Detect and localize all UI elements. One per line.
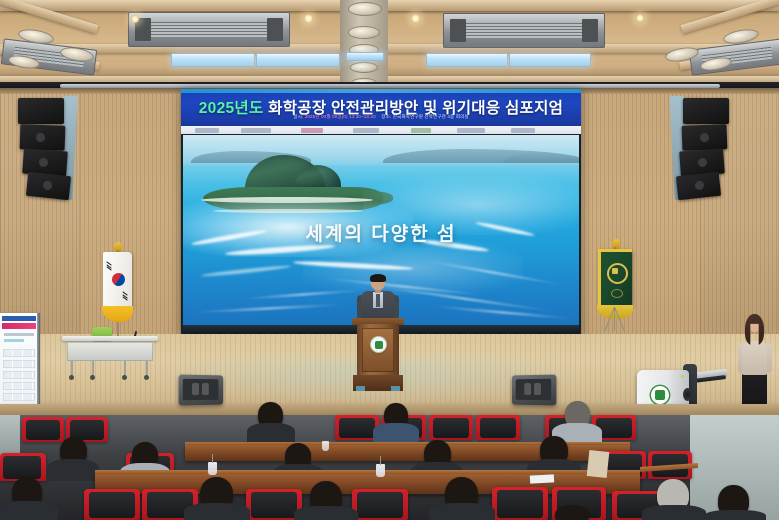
ceiling-oval-light (348, 2, 382, 16)
attendee-shoulders (294, 506, 358, 520)
banner-subtitle-date-label: 일시 (293, 114, 302, 119)
podium-base (353, 375, 403, 391)
attendee-shoulders (247, 423, 295, 443)
symposium-banner: 2025년도 화학공장 안전관리방안 및 위기대응 심포지엄 일시: 2025년… (181, 89, 581, 134)
org-flag-cloth (598, 249, 632, 311)
ceiling-downlight (304, 14, 313, 23)
taegukgi-cloth (103, 252, 132, 314)
attendee-shoulders (373, 423, 419, 443)
beverage-cup (322, 441, 329, 451)
attendee-shoulders (429, 503, 495, 520)
stage-monitor-left (179, 375, 223, 406)
taeguk-circle (109, 271, 127, 289)
handout-paper (530, 474, 554, 483)
table-top (62, 336, 158, 341)
ceiling-downlight (131, 15, 139, 23)
ceiling-slot-light (509, 53, 591, 67)
air-conditioner-unit (443, 13, 605, 48)
handout-paper (587, 450, 610, 478)
stage-monitor-right (512, 375, 556, 406)
beverage-cup (208, 462, 217, 475)
podium (355, 318, 401, 392)
presenter (358, 275, 398, 323)
flag-stand-leg (614, 307, 615, 331)
attendee-shoulders (184, 503, 250, 520)
attendee-shoulders (0, 501, 58, 520)
ceiling-downlight (411, 14, 420, 23)
console-power-led (681, 375, 684, 378)
ceiling (0, 0, 779, 92)
banner-title-bar (2, 323, 36, 329)
podium-emblem (371, 337, 386, 352)
org-flag-emblem (607, 263, 628, 284)
audience-area (0, 415, 779, 520)
ceiling-slot-light (256, 53, 340, 67)
attendee-shoulders (47, 459, 99, 481)
banner-sponsor-strip (181, 126, 581, 134)
organization-flag (592, 245, 640, 345)
presenter-hair (370, 274, 386, 282)
ceiling-slot-light (346, 52, 384, 61)
beverage-cup (376, 464, 385, 477)
table-modesty-panel (67, 342, 153, 361)
head-table (62, 336, 158, 380)
flag-fringe (102, 306, 133, 322)
attendee-shoulders (642, 505, 706, 520)
ceiling-slot-light (426, 53, 508, 67)
slide-title: 세계의 다양한 섬 (183, 219, 579, 246)
ceiling-oval-light (350, 62, 378, 73)
line-array-speaker-right (668, 98, 738, 203)
ceiling-downlight (636, 14, 644, 22)
banner-subtitle-date: 2025년 00월 00일(0) 13:30~18:20 (305, 114, 376, 119)
presenter-tie (376, 294, 380, 307)
banner-header-bar (2, 316, 36, 321)
banner-subtitle: 일시: 2025년 00월 00일(0) 13:30~18:20 장소: 한국화… (181, 114, 581, 120)
podium-body (357, 324, 399, 376)
ceiling-oval-light (348, 26, 380, 39)
auditorium-photo: 2025년도 화학공장 안전관리방안 및 위기대응 심포지엄 일시: 2025년… (0, 0, 779, 520)
attendee-head (555, 505, 589, 520)
line-array-speaker-left (10, 98, 80, 203)
banner-subtitle-place: 한국화학연구원 산학연구관 4층 회의실 (393, 114, 469, 119)
console-logo (651, 386, 669, 404)
attendee-shoulders (704, 510, 766, 520)
banner-subtitle-place-label: 장소 (381, 114, 390, 119)
console-port (683, 388, 692, 401)
ceiling-slot-light (171, 53, 255, 67)
air-conditioner-unit (128, 12, 290, 47)
aisle-floor (0, 415, 20, 457)
attendant-blouse (742, 341, 767, 375)
